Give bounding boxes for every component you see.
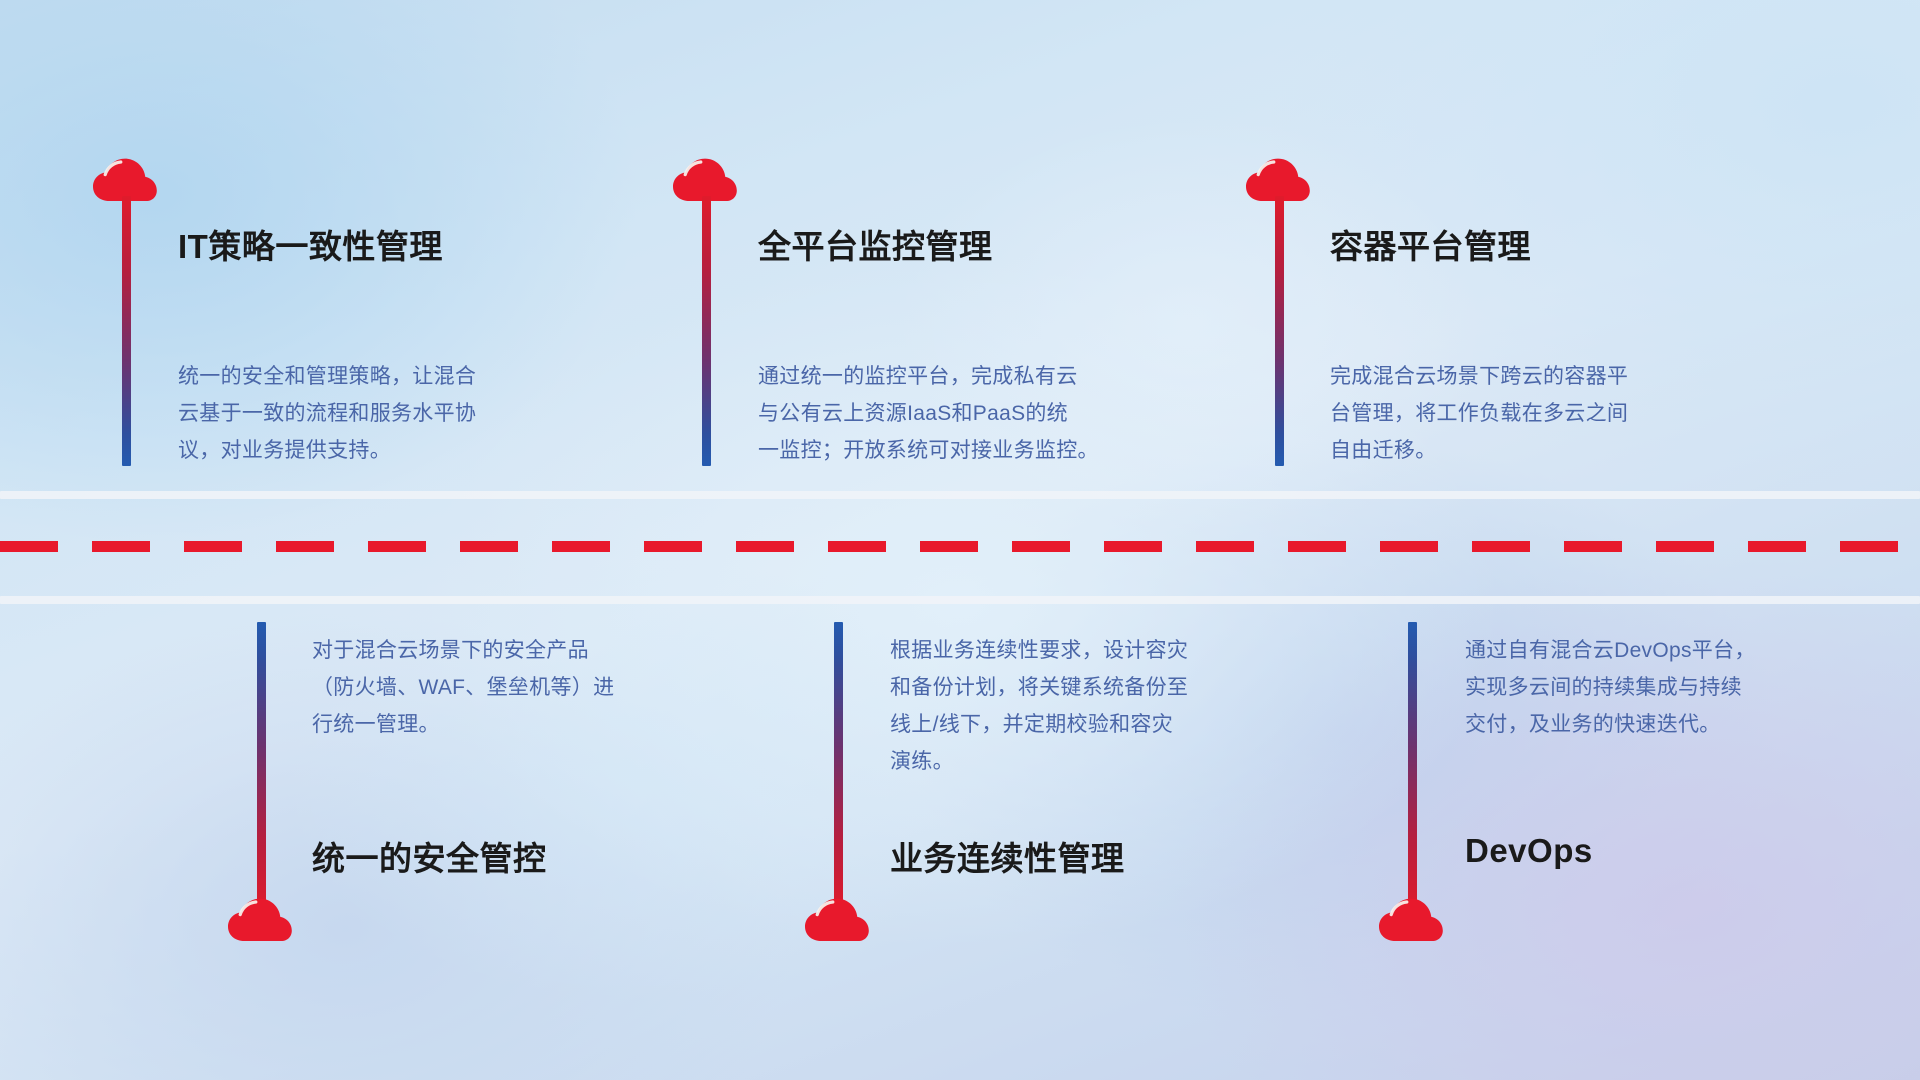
column-heading: 统一的安全管控 (312, 832, 547, 880)
column-body-text: 通过自有混合云DevOps平台， 实现多云间的持续集成与持续 交付，及业务的快速… (1465, 632, 1885, 743)
column-body-text: 完成混合云场景下跨云的容器平 台管理，将工作负载在多云之间 自由迁移。 (1330, 358, 1760, 469)
column-body-text: 对于混合云场景下的安全产品 （防火墙、WAF、堡垒机等）进 行统一管理。 (312, 632, 742, 743)
column-stem (122, 196, 131, 466)
column-heading: DevOps (1465, 832, 1593, 870)
column-stem (1408, 622, 1417, 912)
column-heading: 全平台监控管理 (758, 220, 993, 268)
divider-rule-bottom (0, 596, 1920, 604)
column-heading: 容器平台管理 (1330, 220, 1531, 268)
dashed-separator-line (0, 541, 1920, 552)
column-stem (834, 622, 843, 912)
infographic-canvas: IT策略一致性管理 统一的安全和管理策略，让混合 云基于一致的流程和服务水平协 … (0, 0, 1920, 1080)
cloud-icon (804, 898, 870, 942)
column-heading: IT策略一致性管理 (178, 220, 443, 268)
cloud-icon (227, 898, 293, 942)
column-body-text: 通过统一的监控平台，完成私有云 与公有云上资源IaaS和PaaS的统 一监控；开… (758, 358, 1198, 469)
column-heading: 业务连续性管理 (890, 832, 1125, 880)
cloud-icon (1378, 898, 1444, 942)
column-stem (257, 622, 266, 912)
column-stem (1275, 196, 1284, 466)
column-stem (702, 196, 711, 466)
divider-rule-top (0, 491, 1920, 499)
column-body-text: 根据业务连续性要求，设计容灾 和备份计划，将关键系统备份至 线上/线下，并定期校… (890, 632, 1320, 780)
column-body-text: 统一的安全和管理策略，让混合 云基于一致的流程和服务水平协 议，对业务提供支持。 (178, 358, 608, 469)
